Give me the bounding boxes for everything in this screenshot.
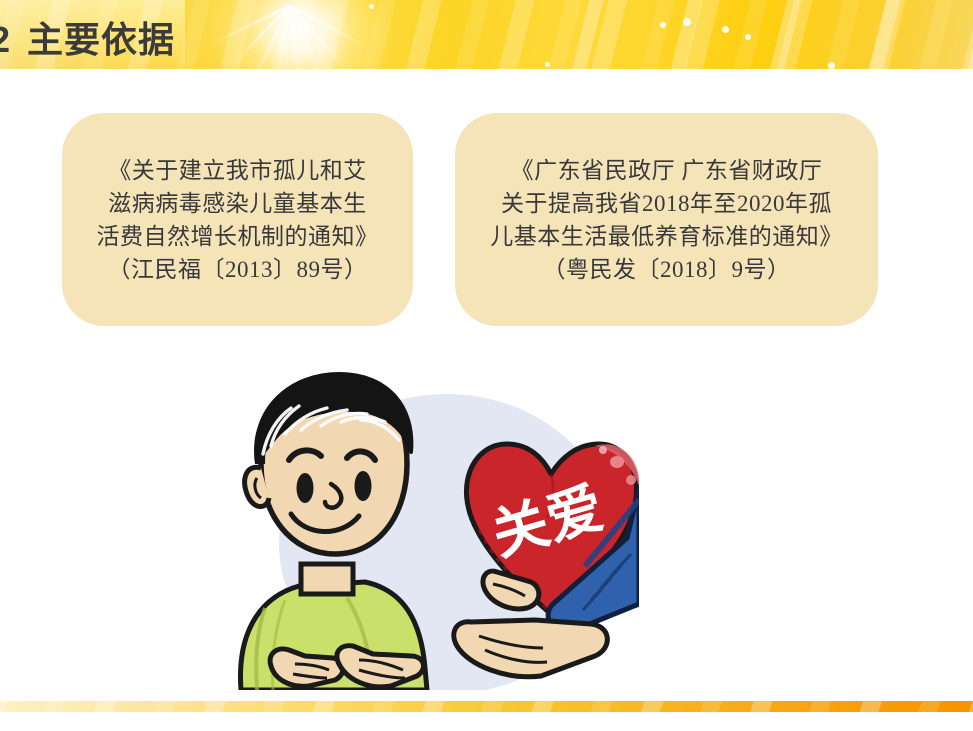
sparkle-icon (745, 34, 751, 40)
sparkle-icon (722, 26, 729, 33)
section-title-text: 主要依据 (27, 19, 175, 60)
footer-bar-thick (0, 714, 973, 731)
header-divider (0, 69, 973, 72)
policy-card-2-line-2: 关于提高我省2018年至2020年孤 (471, 187, 862, 220)
sparkle-icon (828, 62, 835, 69)
sparkle-icon (683, 18, 691, 26)
boy-eye-right (355, 471, 372, 501)
header-diagonal-stripes-right (560, 0, 973, 69)
footer-diagonal-stripes (0, 701, 973, 712)
boy-neck (301, 564, 353, 594)
boy-eye-left (297, 473, 314, 503)
policy-card-1-line-4: （江民福〔2013〕89号） (78, 253, 397, 286)
section-number: 2 (0, 19, 11, 61)
sparkle-icon (660, 22, 666, 28)
policy-card-2-line-1: 《广东省民政厅 广东省财政厅 (471, 154, 862, 187)
policy-card-2-line-3: 儿基本生活最低养育标准的通知》 (471, 220, 862, 253)
policy-card-1-line-2: 滋病病毒感染儿童基本生 (78, 187, 397, 220)
policy-card-1-line-1: 《关于建立我市孤儿和艾 (78, 154, 397, 187)
policy-card-2: 《广东省民政厅 广东省财政厅 关于提高我省2018年至2020年孤 儿基本生活最… (455, 113, 878, 326)
sparkle-icon (545, 62, 550, 67)
header-banner: 2主要依据 (0, 0, 973, 69)
page-title: 2主要依据 (0, 11, 410, 63)
policy-card-1-line-3: 活费自然增长机制的通知》 (78, 220, 397, 253)
caring-illustration: 关爱 (235, 368, 639, 690)
policy-card-2-line-4: （粤民发〔2018〕9号） (471, 253, 862, 286)
policy-card-1: 《关于建立我市孤儿和艾 滋病病毒感染儿童基本生 活费自然增长机制的通知》 （江民… (62, 113, 413, 326)
footer-bar-thin (0, 701, 973, 712)
footer-diagonal-stripes (0, 714, 973, 731)
sparkle-icon (369, 4, 374, 9)
